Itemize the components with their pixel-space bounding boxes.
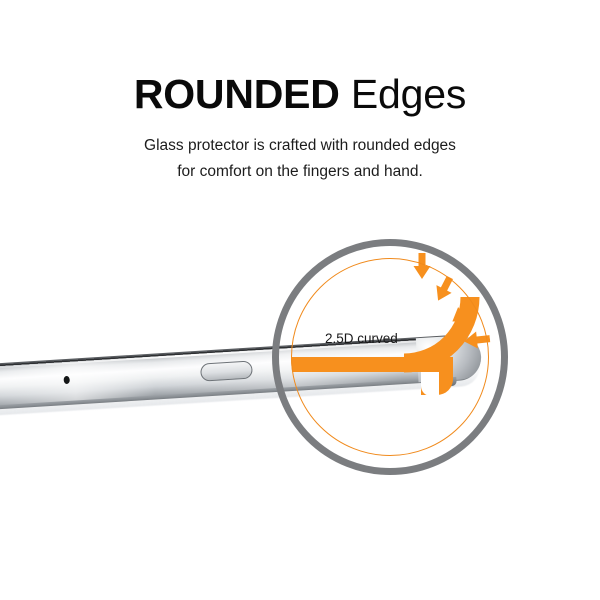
headline-remainder: Edges [351,71,466,117]
magnifier-outer-ring [272,239,508,475]
product-feature-graphic: ROUNDED Edges Glass protector is crafted… [0,0,600,600]
page-title: ROUNDED Edges [0,72,600,116]
subtitle: Glass protector is crafted with rounded … [0,133,600,185]
headline-emphasis: ROUNDED [134,71,340,117]
subtitle-line-2: for comfort on the fingers and hand. [0,159,600,185]
phone-side-button [200,360,253,381]
subtitle-line-1: Glass protector is crafted with rounded … [0,133,600,159]
magnifier-callout: 2.5D curved [272,239,508,475]
